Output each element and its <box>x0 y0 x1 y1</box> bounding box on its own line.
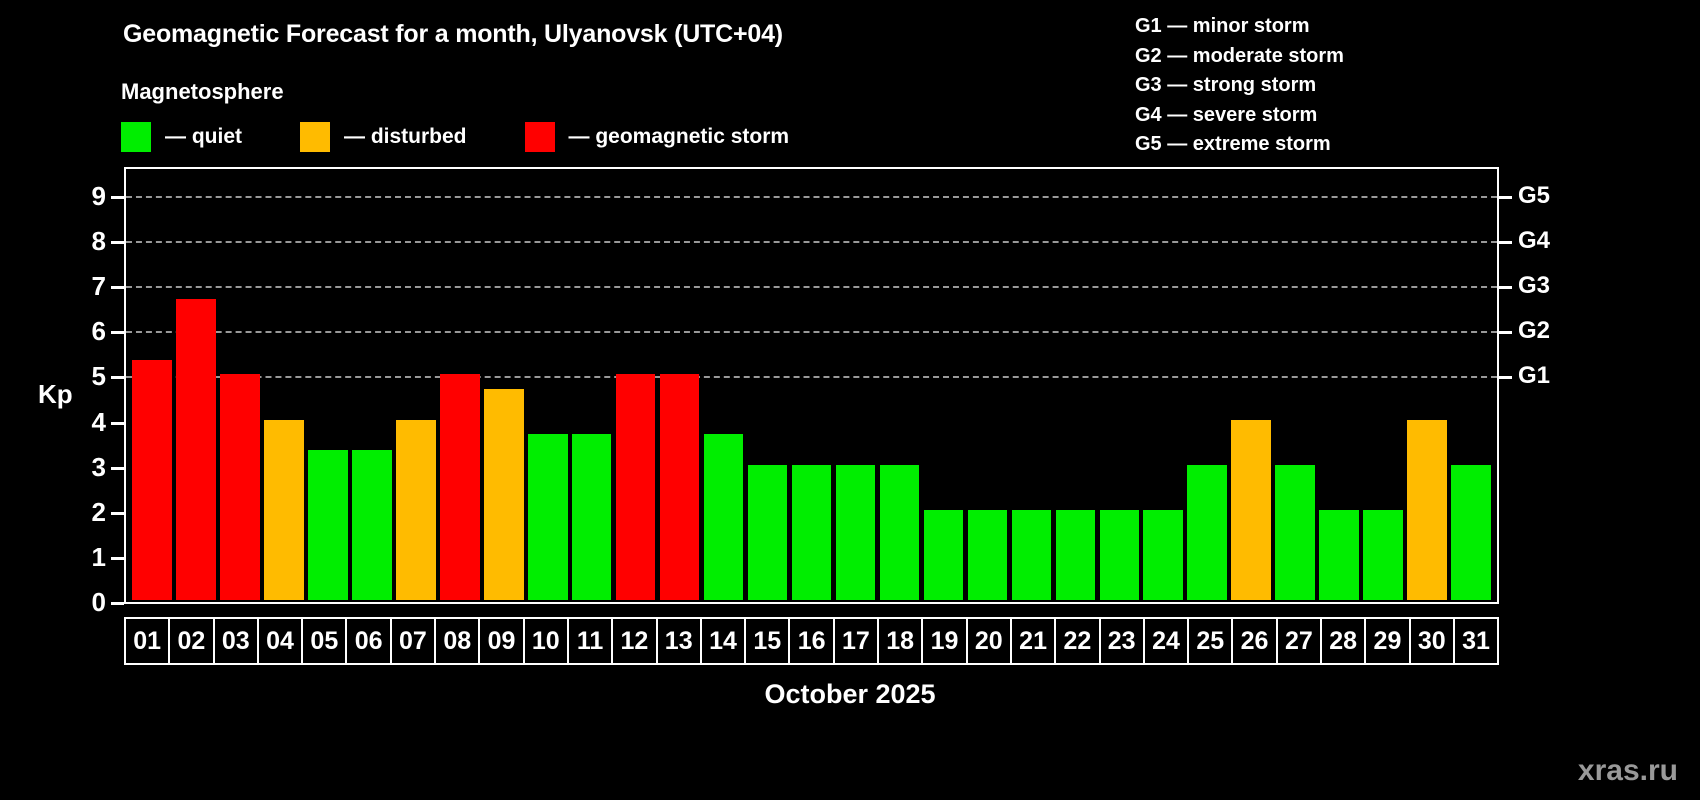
bar-day-17[interactable] <box>836 465 876 600</box>
day-label-27[interactable]: 27 <box>1278 619 1322 663</box>
bar-day-08[interactable] <box>440 374 480 600</box>
g-scale-row-g2: G2 — moderate storm <box>1135 42 1344 72</box>
y-tick-8 <box>111 241 124 244</box>
day-label-09[interactable]: 09 <box>480 619 524 663</box>
g-axis-label-G5: G5 <box>1518 184 1550 208</box>
legend-item-storm: — geomagnetic storm <box>525 122 790 152</box>
day-label-24[interactable]: 24 <box>1145 619 1189 663</box>
bar-day-14[interactable] <box>704 434 744 600</box>
bar-day-23[interactable] <box>1100 510 1140 600</box>
bar-day-05[interactable] <box>308 450 348 600</box>
y-tick-6 <box>111 331 124 334</box>
watermark: xras.ru <box>1578 754 1678 788</box>
day-label-14[interactable]: 14 <box>702 619 746 663</box>
legend-item-quiet: — quiet <box>121 122 242 152</box>
bar-day-16[interactable] <box>792 465 832 600</box>
plot-area <box>124 167 1499 604</box>
bar-day-12[interactable] <box>616 374 656 600</box>
y-tick-label-8: 8 <box>92 228 106 254</box>
bar-day-28[interactable] <box>1319 510 1359 600</box>
page-title: Geomagnetic Forecast for a month, Ulyano… <box>123 20 783 49</box>
g-tick-G5 <box>1499 196 1512 199</box>
bar-day-27[interactable] <box>1275 465 1315 600</box>
day-label-05[interactable]: 05 <box>303 619 347 663</box>
bar-day-20[interactable] <box>968 510 1008 600</box>
y-tick-2 <box>111 512 124 515</box>
day-label-10[interactable]: 10 <box>525 619 569 663</box>
y-tick-5 <box>111 376 124 379</box>
bar-day-18[interactable] <box>880 465 920 600</box>
magnetosphere-legend: — quiet — disturbed — geomagnetic storm <box>121 122 789 152</box>
x-axis-title: October 2025 <box>0 679 1700 710</box>
g-axis-label-G4: G4 <box>1518 229 1550 253</box>
day-label-02[interactable]: 02 <box>170 619 214 663</box>
day-label-25[interactable]: 25 <box>1189 619 1233 663</box>
bar-day-15[interactable] <box>748 465 788 600</box>
day-label-16[interactable]: 16 <box>790 619 834 663</box>
g-scale-legend: G1 — minor storm G2 — moderate storm G3 … <box>1135 12 1344 160</box>
day-label-11[interactable]: 11 <box>569 619 613 663</box>
bar-day-30[interactable] <box>1407 420 1447 600</box>
legend-label-storm: — geomagnetic storm <box>569 125 790 149</box>
g-axis-labels: G1G2G3G4G5 <box>1518 167 1578 604</box>
y-axis-title: Kp <box>38 379 73 410</box>
day-label-20[interactable]: 20 <box>968 619 1012 663</box>
day-label-15[interactable]: 15 <box>746 619 790 663</box>
bar-day-10[interactable] <box>528 434 568 600</box>
bar-day-02[interactable] <box>176 299 216 600</box>
day-label-17[interactable]: 17 <box>835 619 879 663</box>
bar-day-06[interactable] <box>352 450 392 600</box>
bar-day-25[interactable] <box>1187 465 1227 600</box>
legend-swatch-disturbed-icon <box>300 122 330 152</box>
y-tick-label-7: 7 <box>92 273 106 299</box>
bar-day-21[interactable] <box>1012 510 1052 600</box>
day-label-12[interactable]: 12 <box>613 619 657 663</box>
bar-day-11[interactable] <box>572 434 612 600</box>
g-scale-row-g3: G3 — strong storm <box>1135 71 1344 101</box>
day-label-13[interactable]: 13 <box>658 619 702 663</box>
y-tick-label-4: 4 <box>92 409 106 435</box>
bar-day-19[interactable] <box>924 510 964 600</box>
y-tick-7 <box>111 286 124 289</box>
day-label-23[interactable]: 23 <box>1101 619 1145 663</box>
g-axis-ticks <box>1499 167 1513 604</box>
day-label-07[interactable]: 07 <box>392 619 436 663</box>
day-label-01[interactable]: 01 <box>126 619 170 663</box>
bar-day-04[interactable] <box>264 420 304 600</box>
day-label-18[interactable]: 18 <box>879 619 923 663</box>
g-scale-row-g5: G5 — extreme storm <box>1135 130 1344 160</box>
g-axis-label-G3: G3 <box>1518 274 1550 298</box>
y-tick-label-0: 0 <box>92 589 106 615</box>
day-label-04[interactable]: 04 <box>259 619 303 663</box>
day-label-26[interactable]: 26 <box>1233 619 1277 663</box>
day-label-03[interactable]: 03 <box>215 619 259 663</box>
legend-label-quiet: — quiet <box>165 125 242 149</box>
day-label-29[interactable]: 29 <box>1366 619 1410 663</box>
bar-day-22[interactable] <box>1056 510 1096 600</box>
y-tick-1 <box>111 557 124 560</box>
day-label-28[interactable]: 28 <box>1322 619 1366 663</box>
g-axis-label-G2: G2 <box>1518 319 1550 343</box>
g-tick-G4 <box>1499 241 1512 244</box>
legend-swatch-quiet-icon <box>121 122 151 152</box>
day-label-31[interactable]: 31 <box>1455 619 1497 663</box>
y-tick-label-6: 6 <box>92 318 106 344</box>
bar-day-29[interactable] <box>1363 510 1403 600</box>
y-tick-label-2: 2 <box>92 499 106 525</box>
g-scale-row-g1: G1 — minor storm <box>1135 12 1344 42</box>
bar-day-03[interactable] <box>220 374 260 600</box>
y-tick-0 <box>111 602 124 605</box>
y-tick-4 <box>111 422 124 425</box>
bars-layer <box>128 171 1495 600</box>
y-tick-label-1: 1 <box>92 544 106 570</box>
day-label-30[interactable]: 30 <box>1411 619 1455 663</box>
bar-day-24[interactable] <box>1143 510 1183 600</box>
g-tick-G2 <box>1499 331 1512 334</box>
day-label-08[interactable]: 08 <box>436 619 480 663</box>
bar-day-31[interactable] <box>1451 465 1491 600</box>
bar-day-09[interactable] <box>484 389 524 600</box>
day-label-19[interactable]: 19 <box>923 619 967 663</box>
g-axis-label-G1: G1 <box>1518 364 1550 388</box>
day-label-06[interactable]: 06 <box>347 619 391 663</box>
bar-day-13[interactable] <box>660 374 700 600</box>
y-tick-label-9: 9 <box>92 183 106 209</box>
day-label-22[interactable]: 22 <box>1056 619 1100 663</box>
bar-day-01[interactable] <box>132 360 172 600</box>
y-tick-3 <box>111 467 124 470</box>
y-tick-label-3: 3 <box>92 454 106 480</box>
bar-day-07[interactable] <box>396 420 436 600</box>
y-axis-ticks <box>110 167 124 604</box>
y-axis-labels: 0123456789 <box>70 167 106 604</box>
magnetosphere-section-label: Magnetosphere <box>121 79 284 105</box>
y-tick-9 <box>111 196 124 199</box>
legend-item-disturbed: — disturbed <box>300 122 467 152</box>
bar-day-26[interactable] <box>1231 420 1271 600</box>
g-tick-G3 <box>1499 286 1512 289</box>
legend-swatch-storm-icon <box>525 122 555 152</box>
day-label-21[interactable]: 21 <box>1012 619 1056 663</box>
y-tick-label-5: 5 <box>92 363 106 389</box>
g-tick-G1 <box>1499 376 1512 379</box>
legend-label-disturbed: — disturbed <box>344 125 467 149</box>
x-axis-day-labels: 0102030405060708091011121314151617181920… <box>124 617 1499 665</box>
g-scale-row-g4: G4 — severe storm <box>1135 101 1344 131</box>
